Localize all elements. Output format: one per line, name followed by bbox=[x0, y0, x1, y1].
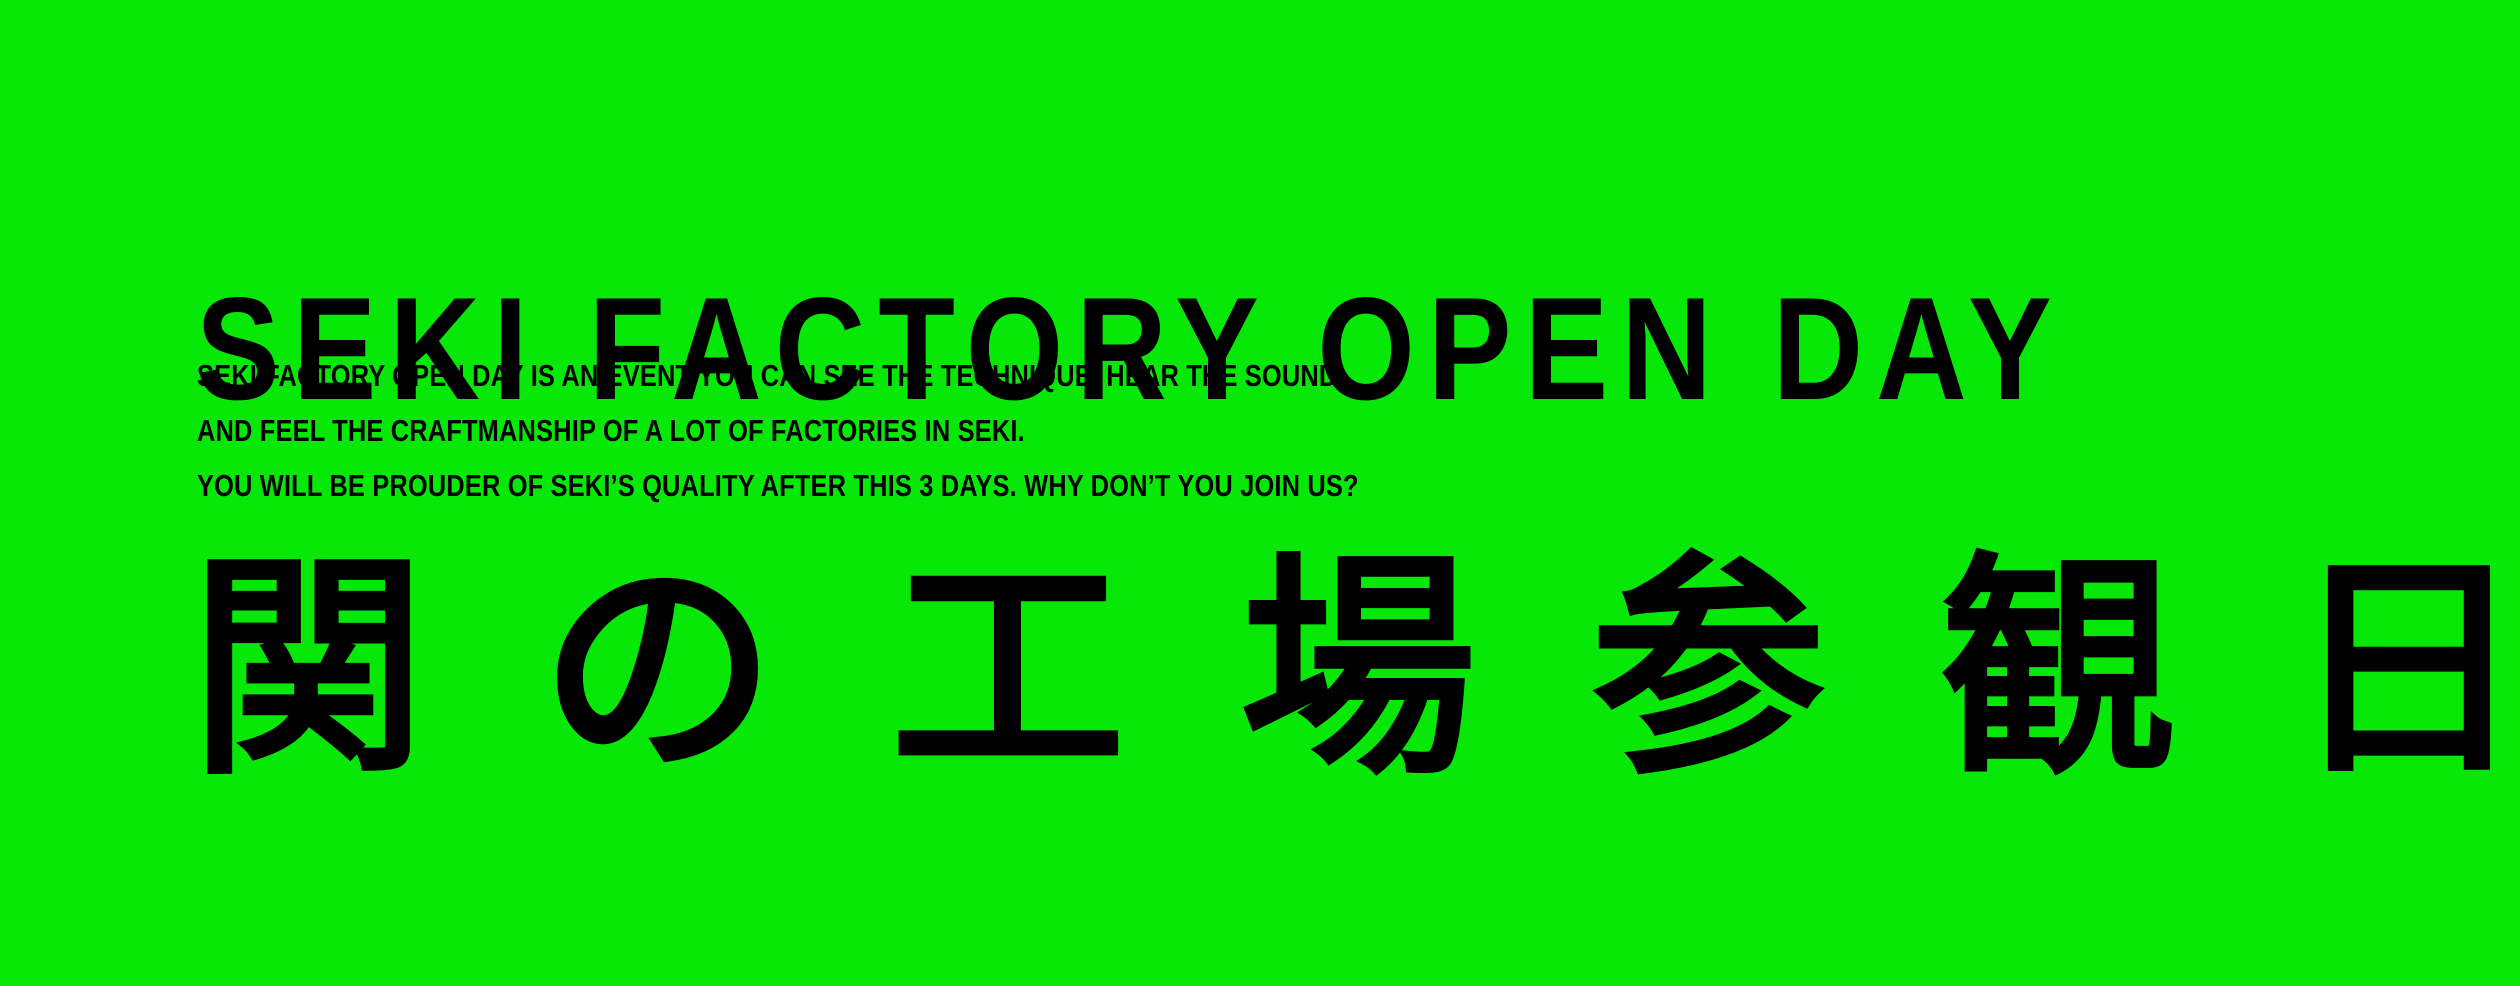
description-line-2: AND FEEL THE CRAFTMANSHIP OF A LOT OF FA… bbox=[197, 403, 1919, 458]
description-line-1: SEKI FACTORY OPEN DAY IS AN EVENT YOU CA… bbox=[197, 348, 1919, 403]
poster-banner: SEKI FACTORY OPEN DAY SEKI FACTORY OPEN … bbox=[0, 0, 2520, 986]
description-line-3: YOU WILL BE PROUDER OF SEKI’S QUALITY AF… bbox=[197, 458, 1919, 513]
japanese-title: 関の工場参観日 bbox=[190, 530, 2490, 810]
description-block: SEKI FACTORY OPEN DAY IS AN EVENT YOU CA… bbox=[197, 348, 1919, 513]
